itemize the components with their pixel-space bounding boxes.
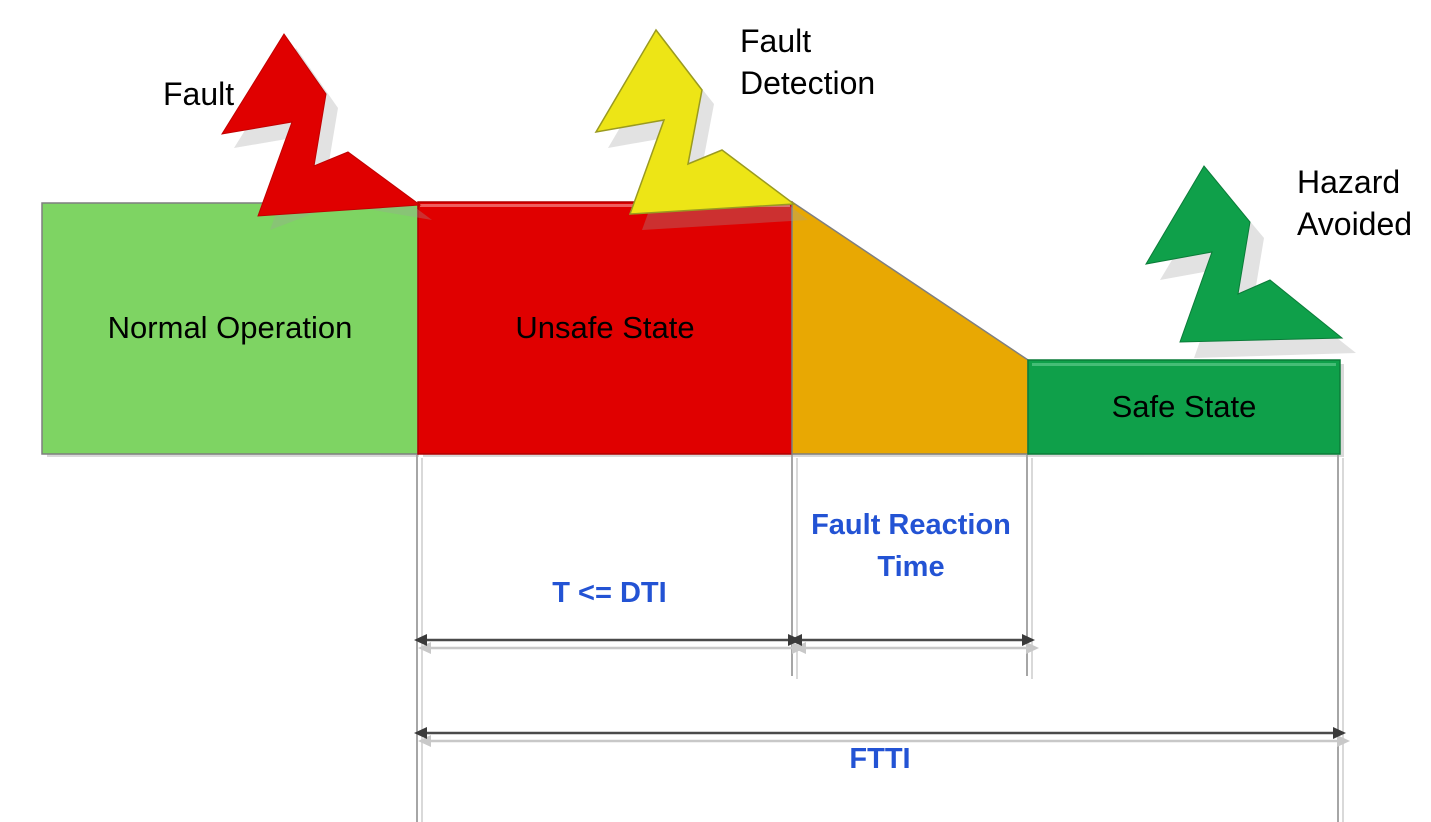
measure-arrow-dti[interactable] bbox=[427, 640, 792, 648]
label-fault: Fault bbox=[163, 76, 234, 114]
label-fault-detection-line2: Detection bbox=[740, 65, 875, 103]
label-hazard-avoided-line2: Avoided bbox=[1297, 206, 1412, 244]
safe-state-highlight bbox=[1032, 363, 1336, 366]
label-unsafe-state: Unsafe State bbox=[418, 310, 792, 347]
diagram-canvas: Normal Operation Unsafe State Safe State… bbox=[0, 0, 1431, 822]
label-hazard-avoided-line1: Hazard bbox=[1297, 164, 1400, 202]
label-normal-operation: Normal Operation bbox=[42, 310, 418, 347]
label-fault-detection-line1: Fault bbox=[740, 23, 811, 61]
label-ftti: FTTI bbox=[427, 742, 1333, 776]
bolt-fault-icon bbox=[222, 34, 420, 216]
measure-arrow-ftti[interactable] bbox=[427, 733, 1337, 741]
measure-arrow-fault-reaction-time[interactable] bbox=[802, 640, 1026, 648]
label-fault-reaction-time-line1: Fault Reaction bbox=[797, 508, 1025, 542]
block-fault-reaction-ramp[interactable] bbox=[792, 202, 1028, 454]
label-dti: T <= DTI bbox=[427, 576, 792, 610]
label-safe-state: Safe State bbox=[1028, 389, 1340, 426]
bolt-fault-group bbox=[222, 34, 432, 230]
label-fault-reaction-time-line2: Time bbox=[797, 550, 1025, 584]
